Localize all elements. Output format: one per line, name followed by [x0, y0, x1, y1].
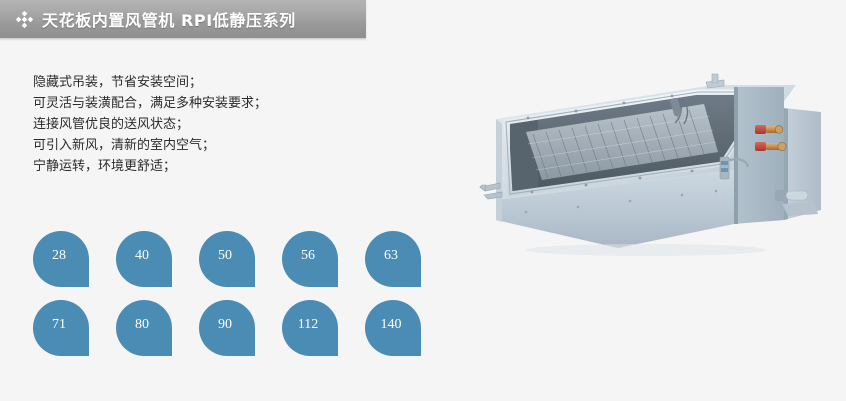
feature-line: 宁静运转，环境更舒适； [33, 156, 433, 177]
feature-list: 隐藏式吊装，节省安装空间； 可灵活与装潢配合，满足多种安装要求； 连接风管优良的… [33, 72, 433, 177]
capacity-badge[interactable]: 112 [282, 300, 338, 356]
ducted-air-conditioner-unit-photo [466, 52, 846, 267]
feature-line: 隐藏式吊装，节省安装空间； [33, 72, 433, 93]
move-arrows-icon [16, 11, 33, 28]
feature-line: 可灵活与装潢配合，满足多种安装要求； [33, 93, 433, 114]
capacity-badge[interactable]: 80 [116, 300, 172, 356]
capacity-badge-row: 71 80 90 112 140 [33, 300, 421, 356]
capacity-badge[interactable]: 71 [33, 300, 89, 356]
feature-line: 可引入新风，清新的室内空气； [33, 135, 433, 156]
capacity-badge-row: 28 40 50 56 63 [33, 231, 421, 287]
section-header: 天花板内置风管机 RPI低静压系列 [0, 0, 366, 38]
capacity-badge[interactable]: 90 [199, 300, 255, 356]
capacity-badge[interactable]: 28 [33, 231, 89, 287]
page-title: 天花板内置风管机 RPI低静压系列 [42, 7, 296, 31]
capacity-badge[interactable]: 40 [116, 231, 172, 287]
capacity-badge[interactable]: 63 [365, 231, 421, 287]
feature-line: 连接风管优良的送风状态； [33, 114, 433, 135]
capacity-badge[interactable]: 140 [365, 300, 421, 356]
capacity-badge[interactable]: 50 [199, 231, 255, 287]
capacity-badge[interactable]: 56 [282, 231, 338, 287]
capacity-badge-grid: 28 40 50 56 63 71 80 90 112 140 [33, 231, 421, 369]
